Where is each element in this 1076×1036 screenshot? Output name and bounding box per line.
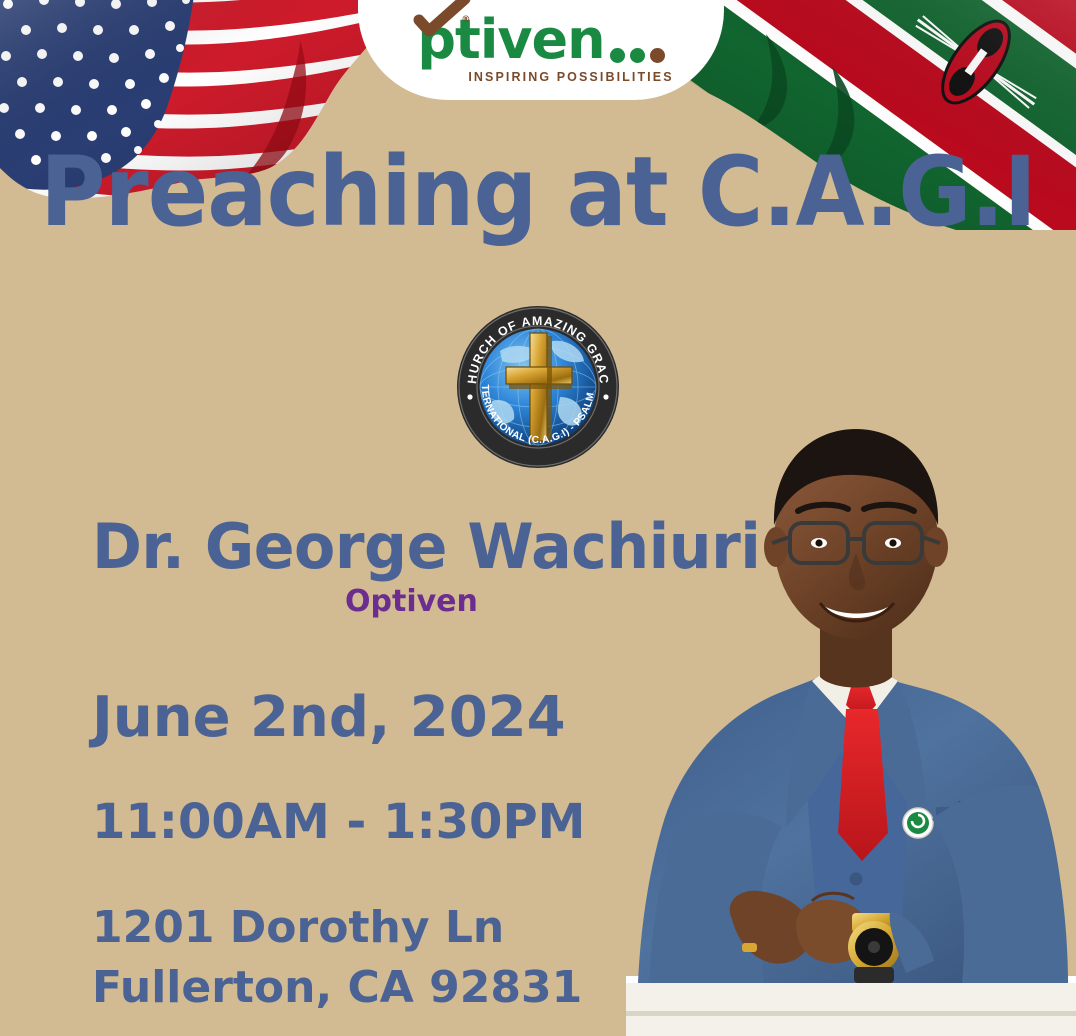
dot-brown [650, 48, 665, 63]
optiven-tagline: INSPIRING POSSIBILITIES [468, 70, 673, 84]
speaker-name: Dr. George Wachiuri [92, 514, 760, 580]
dot-green-2 [630, 48, 645, 63]
event-time: 11:00AM - 1:30PM [92, 795, 585, 849]
checkmark-icon [413, 0, 471, 37]
optiven-dots [605, 48, 665, 67]
page-title: Preaching at C.A.G.I [38, 142, 1039, 242]
event-address: 1201 Dorothy Ln Fullerton, CA 92831 [92, 898, 582, 1018]
speaker-company: Optiven [345, 585, 478, 619]
event-address-line2: Fullerton, CA 92831 [92, 958, 582, 1018]
optiven-wordmark: ® ptiven [417, 13, 604, 67]
optiven-logo-card: ® ptiven INSPIRING POSSIBILITIES [358, 0, 724, 100]
optiven-logo: ® ptiven [417, 11, 664, 67]
dot-green-1 [610, 48, 625, 63]
church-of-amazing-grace-seal: CHURCH OF AMAZING GRACE INTERNATIONAL (C… [456, 305, 620, 469]
speaker-portrait [606, 391, 1076, 1036]
event-poster: ® ptiven INSPIRING POSSIBILITIES Preachi… [0, 0, 1076, 1036]
event-date: June 2nd, 2024 [92, 687, 566, 749]
event-address-line1: 1201 Dorothy Ln [92, 898, 582, 958]
